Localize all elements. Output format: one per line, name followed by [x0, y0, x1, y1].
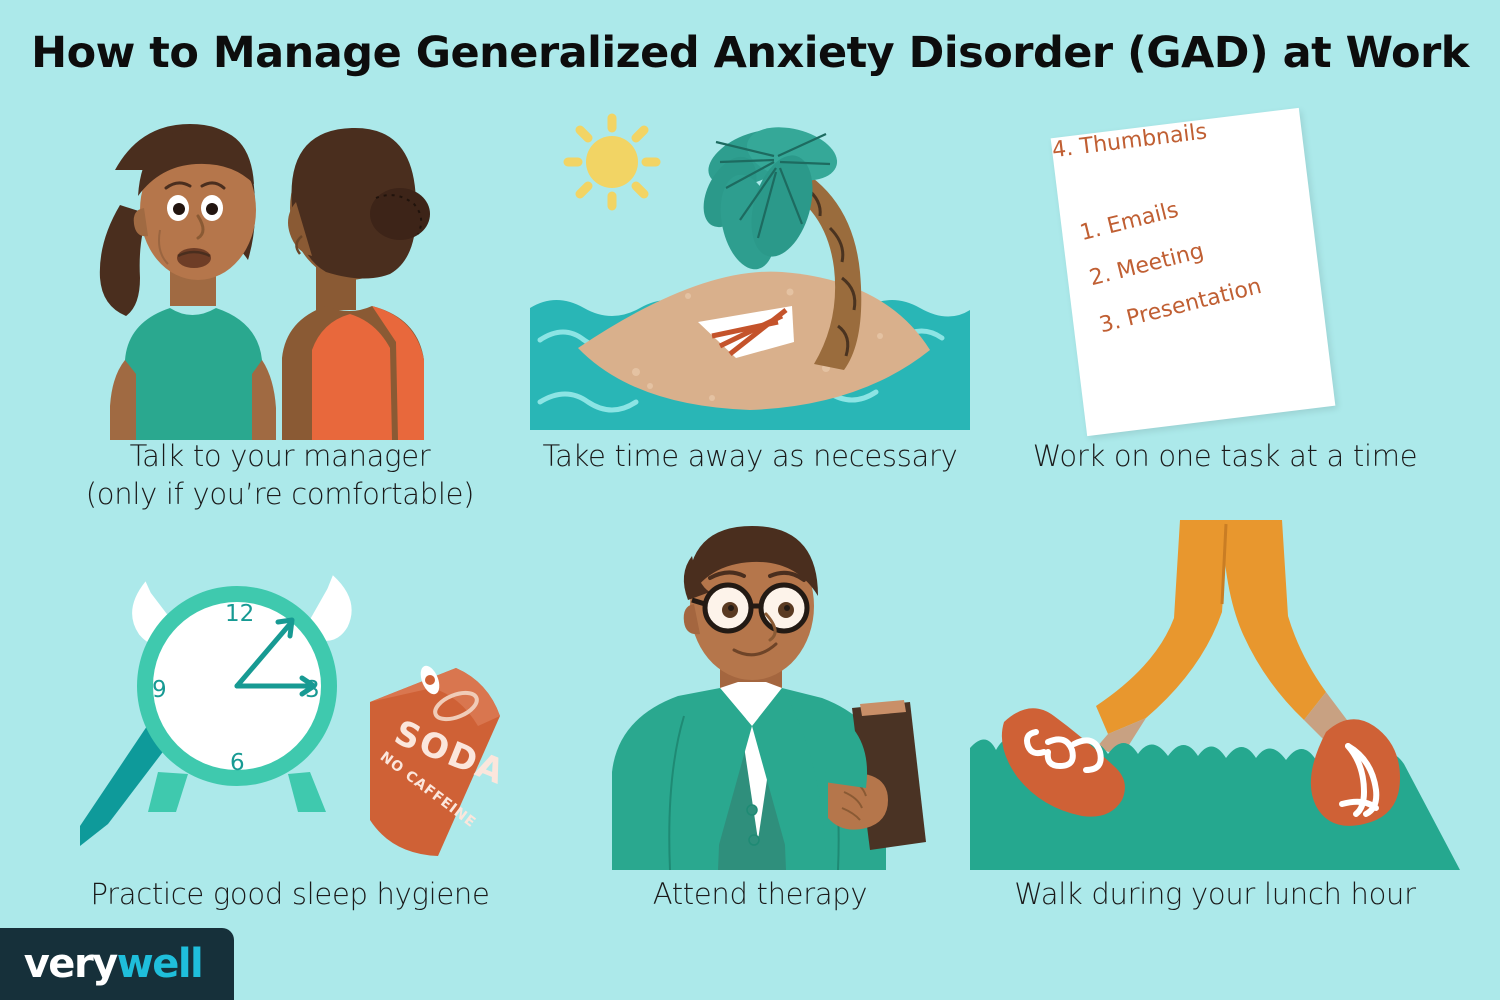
cell-talk-to-manager: Talk to your manager (only if you’re com…	[20, 110, 540, 510]
logo-text-very: very	[24, 941, 117, 987]
clock-numeral-3: 3	[305, 677, 320, 703]
caption-one-task-at-a-time: Work on one task at a time	[990, 437, 1460, 475]
two-people-talking-icon	[20, 110, 540, 440]
soda-can-label: SODA NO CAFFEINE	[360, 670, 540, 860]
clock-numeral-6: 6	[230, 750, 245, 776]
walking-legs-icon	[970, 520, 1460, 870]
tropical-island-icon	[530, 110, 970, 430]
therapist-icon	[560, 520, 960, 870]
caption-sleep-hygiene: Practice good sleep hygiene	[40, 875, 540, 913]
page-title: How to Manage Generalized Anxiety Disord…	[0, 28, 1500, 78]
todo-notepad: 1. Emails 2. Meeting 3. Presentation 4. …	[1051, 108, 1336, 436]
infographic-canvas: How to Manage Generalized Anxiety Disord…	[0, 0, 1500, 1000]
cell-sleep-hygiene: 12 3 6 9 SODA NO CAFFEINE Practice good …	[40, 520, 540, 920]
caption-walk-lunch-hour: Walk during your lunch hour	[970, 875, 1460, 913]
caption-take-time-away: Take time away as necessary	[530, 437, 970, 475]
cell-attend-therapy: Attend therapy	[560, 520, 960, 920]
clock-numeral-12: 12	[225, 601, 254, 627]
clock-numeral-9: 9	[152, 677, 167, 703]
caption-attend-therapy: Attend therapy	[560, 875, 960, 913]
verywell-logo[interactable]: verywell	[0, 928, 234, 1000]
cell-walk-lunch-hour: Walk during your lunch hour	[970, 520, 1460, 920]
sun-icon	[568, 118, 656, 206]
logo-text-well: well	[117, 941, 203, 987]
cell-one-task-at-a-time: 1. Emails 2. Meeting 3. Presentation 4. …	[990, 110, 1460, 510]
cell-take-time-away: Take time away as necessary	[530, 110, 970, 510]
caption-talk-to-manager: Talk to your manager (only if you’re com…	[20, 437, 540, 513]
